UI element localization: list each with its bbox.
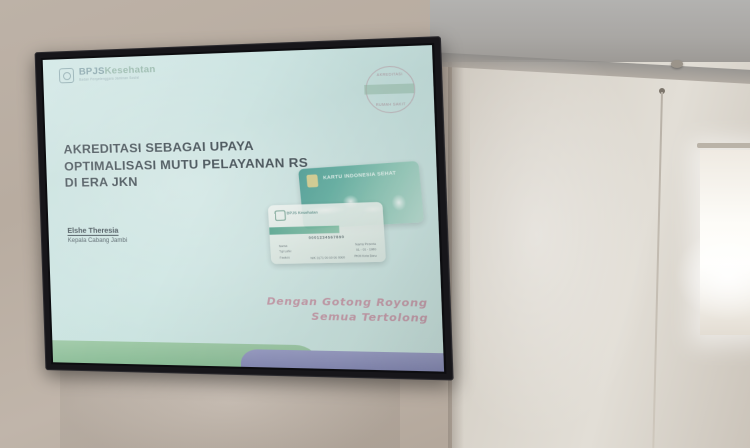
screen-frame: BPJSKesehatan Badan Penyelenggara Jamina…: [35, 36, 454, 380]
card-row-label: Tgl Lahir: [279, 249, 291, 253]
slide-title: AKREDITASI SEBAGAI UPAYA OPTIMALISASI MU…: [63, 136, 315, 191]
bpjs-member-card-icon: BPJS Kesehatan 0001234567890 Nama Nama P…: [268, 202, 386, 264]
wall-highlight: [470, 60, 660, 448]
ceiling-fitting-icon: [671, 60, 683, 68]
brand-slogan: Dengan Gotong Royong Semua Tertolong: [266, 295, 428, 326]
brand-name-primary: BPJS: [79, 66, 105, 78]
seal-band: [364, 83, 414, 94]
wall-corner: [448, 38, 464, 448]
bpjs-logo: BPJSKesehatan Badan Penyelenggara Jamina…: [59, 65, 156, 84]
card-row-label: Nama: [279, 244, 288, 248]
kis-card-label: KARTU INDONESIA SEHAT: [323, 170, 396, 180]
brand-name: BPJSKesehatan: [79, 65, 156, 77]
accreditation-seal-icon: AKREDITASI RUMAH SAKIT: [365, 65, 416, 114]
card-bpjs-brand: BPJS Kesehatan: [287, 210, 318, 215]
card-green-band: [269, 226, 340, 235]
seal-bottom-text: RUMAH SAKIT: [367, 102, 415, 108]
garuda-emblem-icon: [306, 174, 318, 187]
seal-top-text: AKREDITASI: [366, 72, 414, 78]
card-bpjs-logo-icon: [275, 210, 286, 221]
presenter-role: Kepala Cabang Jambi: [68, 237, 128, 243]
card-row-value: Nama Peserta: [355, 242, 376, 247]
room-photo: BPJSKesehatan Badan Penyelenggara Jamina…: [0, 0, 750, 448]
projection-screen: BPJSKesehatan Badan Penyelenggara Jamina…: [35, 36, 454, 380]
window-glow: [676, 230, 750, 320]
presentation-slide: BPJSKesehatan Badan Penyelenggara Jamina…: [43, 45, 444, 372]
presenter-block: Elshe Theresia Kepala Cabang Jambi: [67, 226, 127, 244]
ceiling: [430, 0, 750, 62]
card-row-value: 01 - 01 - 1980: [356, 247, 376, 252]
card-member-number: 0001234567890: [270, 234, 385, 241]
slogan-line-2: Semua Tertolong: [267, 309, 429, 326]
slogan-line-1: Dengan Gotong Royong: [266, 295, 428, 311]
brand-tagline: Badan Penyelenggara Jaminan Sosial: [79, 77, 156, 83]
bpjs-circle-icon: [59, 68, 74, 84]
presenter-name: Elshe Theresia: [67, 226, 127, 235]
curtain-rod: [697, 143, 750, 148]
brand-name-secondary: Kesehatan: [104, 64, 155, 77]
